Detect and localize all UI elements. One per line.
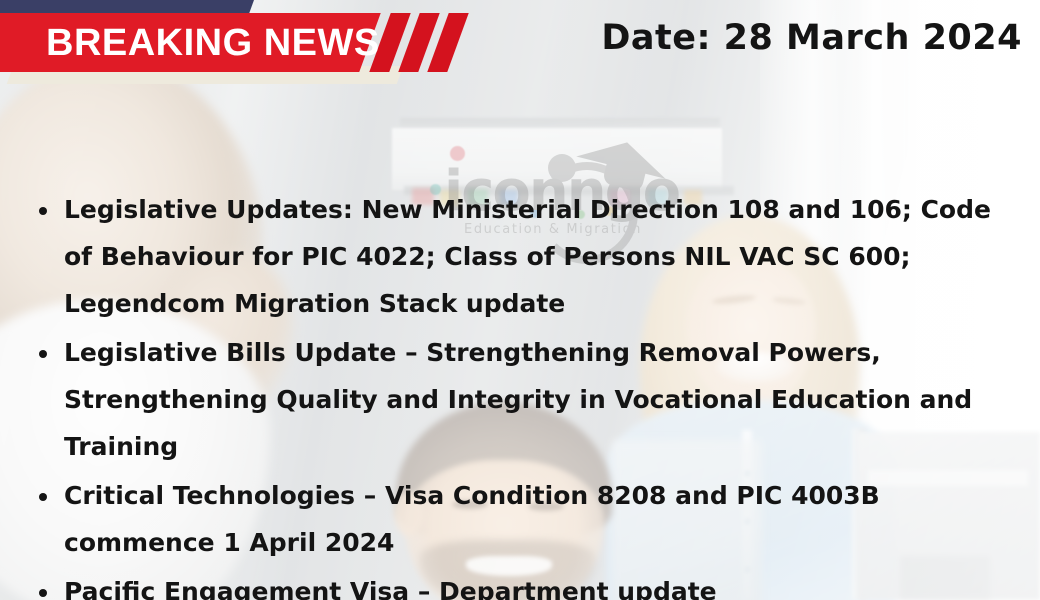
list-item: Legislative Bills Update – Strengthening… [30,329,1010,470]
list-item: Pacific Engagement Visa – Department upd… [30,568,1010,600]
list-item: Legislative Updates: New Ministerial Dir… [30,186,1010,327]
list-item: Critical Technologies – Visa Condition 8… [30,472,1010,566]
breaking-news-poster: iconngo Education & Migration BREAKING N… [0,0,1040,600]
banner-label: BREAKING NEWS [46,20,380,66]
headline-list: Legislative Updates: New Ministerial Dir… [30,186,1010,600]
breaking-news-banner: BREAKING NEWS [0,0,470,96]
date-label: Date: 28 March 2024 [601,18,1022,58]
